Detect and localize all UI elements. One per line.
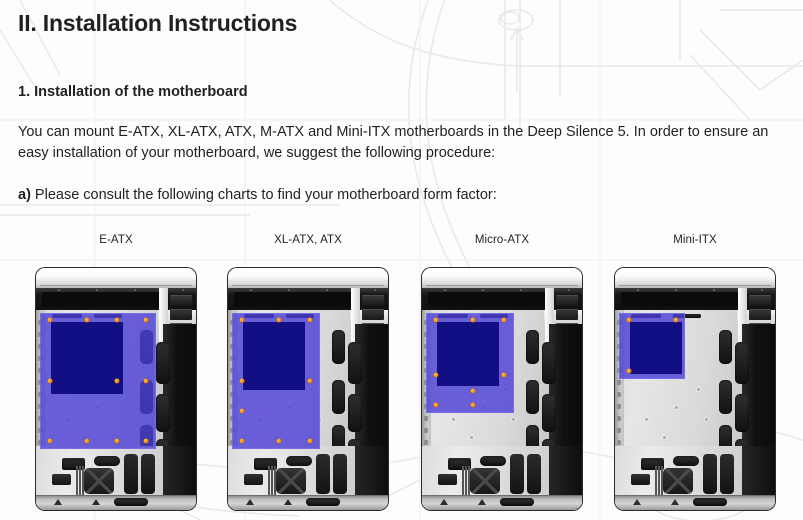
- bottom-vent-bar: [661, 466, 663, 496]
- base-cutout: [693, 498, 727, 506]
- mounting-screw-marker: [85, 318, 90, 323]
- drive-cage: [510, 454, 524, 494]
- document-page: II. Installation Instructions 1. Install…: [0, 0, 803, 520]
- cable-routing-cutout: [719, 380, 732, 414]
- expansion-slot: [170, 295, 192, 306]
- bottom-fan-mount: [470, 468, 500, 494]
- roof-screw: [520, 289, 522, 291]
- cable-routing-cutout: [332, 330, 345, 364]
- mounting-screw-marker: [434, 403, 439, 408]
- drive-cage: [720, 454, 734, 494]
- roof-screw: [58, 289, 60, 291]
- fan-blade-pattern: [470, 468, 500, 494]
- top-fan-opening: [42, 291, 160, 307]
- case-illustration: [615, 268, 775, 510]
- case-illustration: [422, 268, 582, 510]
- cable-routing-cutout: [526, 330, 539, 364]
- mounting-screw-marker: [308, 379, 313, 384]
- tray-edge-hole: [617, 404, 621, 409]
- bottom-fan-mount: [663, 468, 693, 494]
- tray-edge-hole: [617, 392, 621, 397]
- tray-edge-hole: [424, 416, 428, 421]
- motherboard-standoff: [512, 418, 515, 421]
- roof-screw: [96, 289, 98, 291]
- figure-e-atx: E-ATX: [21, 232, 211, 510]
- bottom-cutout: [480, 456, 506, 466]
- bottom-cutout: [286, 456, 312, 466]
- cable-routing-cutout: [156, 342, 170, 384]
- roof-screw: [182, 289, 184, 291]
- mounting-screw-marker: [277, 318, 282, 323]
- motherboard-standoff: [675, 406, 678, 409]
- base-cutout: [500, 498, 534, 506]
- mounting-screw-marker: [434, 373, 439, 378]
- mounting-screw-marker: [471, 403, 476, 408]
- motherboard-standoff: [452, 418, 455, 421]
- figure-caption: E-ATX: [21, 232, 211, 248]
- step-a-label: a): [18, 187, 31, 203]
- mounting-screw-marker: [674, 318, 679, 323]
- fan-blade-pattern: [84, 468, 114, 494]
- tray-edge-hole: [424, 428, 428, 433]
- mounting-screw-marker: [277, 439, 282, 444]
- mounting-screw-marker: [144, 318, 149, 323]
- roof-screw: [444, 289, 446, 291]
- case-foot: [54, 499, 62, 505]
- motherboard-standoff: [470, 436, 473, 439]
- psu-cutout: [52, 474, 71, 485]
- text-content: II. Installation Instructions 1. Install…: [18, 0, 788, 203]
- mounting-screw-marker: [308, 439, 313, 444]
- form-factor-figure-row: E-ATXXL-ATX, ATXMicro-ATXMini-ITX: [0, 232, 803, 520]
- motherboard-footprint-core: [51, 322, 123, 394]
- bottom-rear-shadow: [355, 446, 388, 495]
- cable-routing-cutout: [348, 342, 362, 384]
- bottom-vent-bar: [274, 466, 276, 496]
- expansion-slot: [749, 309, 771, 320]
- bottom-vent-bar: [468, 466, 470, 496]
- bottom-fan-mount: [276, 468, 306, 494]
- case-lid-seam: [619, 285, 771, 286]
- cable-routing-cutout: [719, 330, 732, 364]
- case-foot: [246, 499, 254, 505]
- bottom-vent-bar: [76, 466, 78, 496]
- tray-edge-hole: [617, 380, 621, 385]
- figure-micro-atx: Micro-ATX: [407, 232, 597, 510]
- base-cutout: [306, 498, 340, 506]
- drive-cage: [703, 454, 717, 494]
- figure-caption: Mini-ITX: [600, 232, 790, 248]
- motherboard-standoff: [697, 388, 700, 391]
- roof-screw: [568, 289, 570, 291]
- page-title: II. Installation Instructions: [18, 10, 788, 37]
- psu-cutout: [631, 474, 650, 485]
- mounting-screw-marker: [240, 379, 245, 384]
- case-foot: [478, 499, 486, 505]
- bottom-rear-shadow: [549, 446, 582, 495]
- bottom-vent-bar: [268, 466, 270, 496]
- expansion-slot: [362, 295, 384, 306]
- figure-caption: XL-ATX, ATX: [213, 232, 403, 248]
- bottom-fan-mount: [84, 468, 114, 494]
- cable-routing-cutout: [735, 394, 749, 432]
- psu-cutout: [438, 474, 457, 485]
- case-foot: [440, 499, 448, 505]
- case-illustration: [228, 268, 388, 510]
- bottom-vent-bar: [82, 466, 84, 496]
- mounting-screw-marker: [48, 318, 53, 323]
- base-cutout: [114, 498, 148, 506]
- roof-screw: [250, 289, 252, 291]
- bottom-vent-bar: [658, 466, 660, 496]
- tray-edge-hole: [617, 440, 621, 445]
- mounting-screw-marker: [144, 379, 149, 384]
- roof-screw: [374, 289, 376, 291]
- mounting-screw-marker: [115, 379, 120, 384]
- mounting-screw-marker: [240, 318, 245, 323]
- motherboard-standoff: [645, 418, 648, 421]
- figure-xl-atx-atx: XL-ATX, ATX: [213, 232, 403, 510]
- fan-blade-pattern: [276, 468, 306, 494]
- top-fan-opening: [621, 291, 739, 307]
- mounting-screw-marker: [85, 439, 90, 444]
- case-lid-seam: [40, 285, 192, 286]
- step-a-text: Please consult the following charts to f…: [31, 187, 497, 203]
- drive-cage: [333, 454, 347, 494]
- cable-routing-cutout: [526, 380, 539, 414]
- bottom-rear-shadow: [163, 446, 196, 495]
- roof-screw: [675, 289, 677, 291]
- top-fan-opening: [234, 291, 352, 307]
- motherboard-footprint-core: [243, 322, 305, 390]
- mounting-screw-marker: [471, 318, 476, 323]
- bottom-vent-bar: [465, 466, 467, 496]
- tray-edge-hole: [617, 416, 621, 421]
- cable-routing-cutout: [348, 394, 362, 432]
- case-lid-seam: [232, 285, 384, 286]
- mounting-screw-marker: [308, 318, 313, 323]
- case-illustration: [36, 268, 196, 510]
- mounting-screw-marker: [144, 439, 149, 444]
- cable-routing-cutout: [332, 380, 345, 414]
- cable-routing-cutout: [735, 342, 749, 384]
- motherboard-standoff: [705, 418, 708, 421]
- expansion-slot: [749, 295, 771, 306]
- mounting-screw-marker: [434, 318, 439, 323]
- fan-blade-pattern: [663, 468, 693, 494]
- bottom-vent-bar: [79, 466, 81, 496]
- mounting-screw-marker: [627, 318, 632, 323]
- mounting-screw-marker: [471, 389, 476, 394]
- bottom-vent-bar: [462, 466, 464, 496]
- motherboard-footprint-core: [437, 322, 499, 386]
- tray-edge-hole: [424, 440, 428, 445]
- roof-screw: [637, 289, 639, 291]
- mounting-screw-marker: [240, 439, 245, 444]
- expansion-slot: [556, 295, 578, 306]
- intro-paragraph: You can mount E-ATX, XL-ATX, ATX, M-ATX …: [18, 122, 786, 164]
- case-foot: [92, 499, 100, 505]
- drive-cage: [124, 454, 138, 494]
- motherboard-footprint-overlay: [40, 313, 156, 449]
- tray-edge-hole: [617, 428, 621, 433]
- mounting-screw-marker: [115, 318, 120, 323]
- figure-mini-itx: Mini-ITX: [600, 232, 790, 510]
- psu-cutout: [244, 474, 263, 485]
- case-foot: [284, 499, 292, 505]
- step-a-line: a) Please consult the following charts t…: [18, 187, 788, 203]
- bottom-rear-shadow: [742, 446, 775, 495]
- expansion-slot: [362, 309, 384, 320]
- figure-caption: Micro-ATX: [407, 232, 597, 248]
- drive-cage: [141, 454, 155, 494]
- cable-routing-cutout: [542, 394, 556, 432]
- bottom-cutout: [673, 456, 699, 466]
- motherboard-footprint-core: [630, 322, 682, 374]
- bottom-vent-bar: [655, 466, 657, 496]
- roof-screw: [134, 289, 136, 291]
- motherboard-standoff: [663, 436, 666, 439]
- drive-cage: [316, 454, 330, 494]
- roof-screw: [713, 289, 715, 291]
- roof-screw: [482, 289, 484, 291]
- mounting-screw-marker: [502, 373, 507, 378]
- roof-screw: [761, 289, 763, 291]
- mounting-screw-marker: [627, 369, 632, 374]
- mounting-screw-marker: [240, 409, 245, 414]
- drive-cage: [527, 454, 541, 494]
- bottom-cutout: [94, 456, 120, 466]
- cable-routing-cutout: [156, 394, 170, 432]
- motherboard-footprint-overlay: [426, 313, 514, 413]
- bottom-vent-bar: [271, 466, 273, 496]
- case-lid-seam: [426, 285, 578, 286]
- expansion-slot: [170, 309, 192, 320]
- expansion-slot: [556, 309, 578, 320]
- roof-screw: [288, 289, 290, 291]
- cable-routing-cutout: [542, 342, 556, 384]
- mounting-screw-marker: [48, 439, 53, 444]
- roof-screw: [326, 289, 328, 291]
- case-foot: [671, 499, 679, 505]
- section-subtitle: 1. Installation of the motherboard: [18, 84, 788, 100]
- top-fan-opening: [428, 291, 546, 307]
- mounting-screw-marker: [115, 439, 120, 444]
- case-foot: [633, 499, 641, 505]
- mounting-screw-marker: [48, 379, 53, 384]
- mounting-screw-marker: [502, 318, 507, 323]
